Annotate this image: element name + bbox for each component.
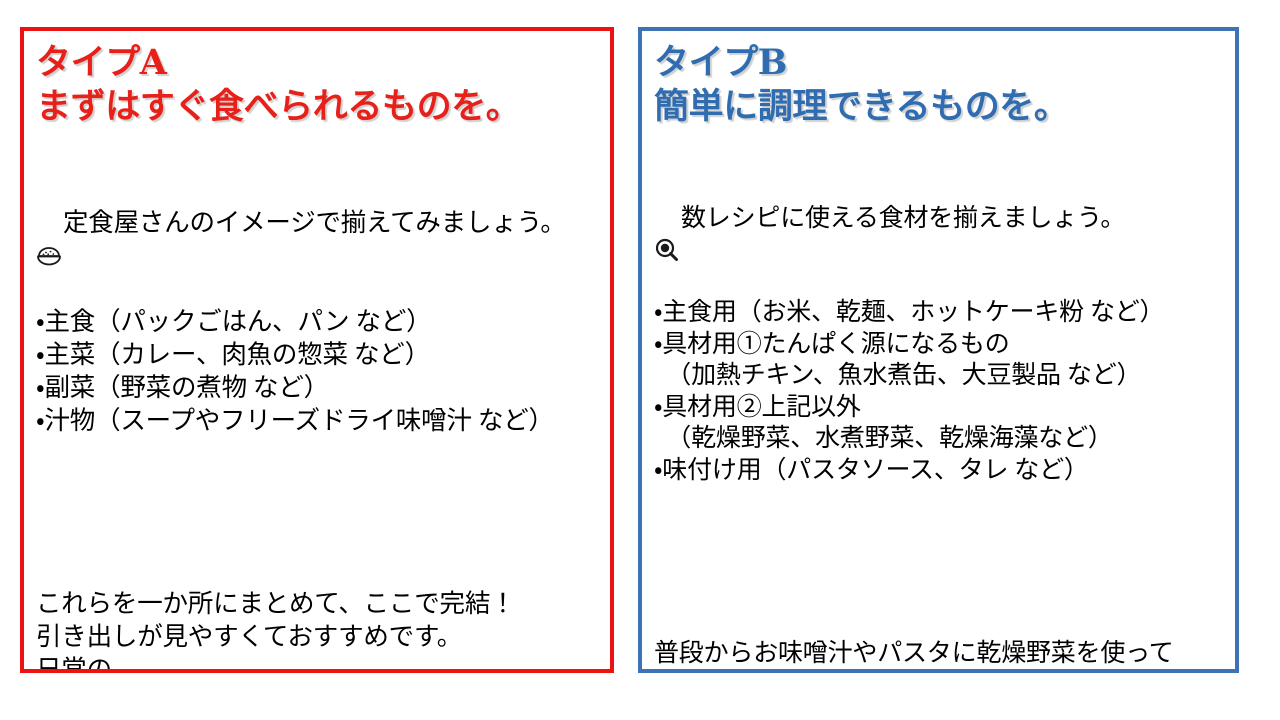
- panel-a-spacer: [36, 503, 598, 521]
- panel-a-content: タイプA まずはすぐ食べられるものを。: [24, 31, 610, 673]
- panel-type-b: タイプB 簡単に調理できるものを。 数レシピに使える食材を揃えましょう。 ・主食…: [638, 27, 1239, 673]
- magnifying-glass-icon: [654, 206, 680, 232]
- panel-b-spacer-1: [654, 549, 1223, 575]
- panel-b-list: ・主食用（お米、乾麺、ホットケーキ粉 など） ・具材用①たんぱく源になるもの （…: [654, 297, 1223, 486]
- panel-b-lead-line: 数レシピに使える食材を揃えましょう。: [654, 203, 1223, 235]
- panel-b-content: タイプB 簡単に調理できるものを。 数レシピに使える食材を揃えましょう。 ・主食…: [642, 31, 1235, 673]
- rice-bowl-icon: [36, 209, 62, 235]
- panel-a-body: 定食屋さんのイメージで揃えてみましょう。 ・主食（パックごはん、パン など） ・…: [36, 140, 598, 673]
- panel-a-paragraph-1: これらを一か所にまとめて、ここで完結！ 引き出しが見やすくておすすめです。 日常…: [36, 587, 598, 673]
- panel-a-lead-text: 定食屋さんのイメージで揃えてみましょう。: [63, 206, 566, 239]
- panel-b-body: 数レシピに使える食材を揃えましょう。 ・主食用（お米、乾麺、ホットケーキ粉 など…: [654, 140, 1223, 673]
- panel-a-list: ・主食（パックごはん、パン など） ・主菜（カレー、肉魚の惣菜 など） ・副菜（…: [36, 305, 598, 437]
- slide-canvas: タイプA まずはすぐ食べられるものを。: [0, 0, 1280, 720]
- panel-b-heading: タイプB 簡単に調理できるものを。: [654, 41, 1223, 130]
- panel-b-lead-text: 数レシピに使える食材を揃えましょう。: [681, 203, 1125, 235]
- panel-a-heading: タイプA まずはすぐ食べられるものを。: [36, 41, 598, 130]
- panel-type-a: タイプA まずはすぐ食べられるものを。: [20, 27, 614, 673]
- panel-a-lead-line: 定食屋さんのイメージで揃えてみましょう。: [36, 206, 598, 239]
- panel-b-paragraph-1: 普段からお味噌汁やパスタに乾燥野菜を使って みたり、急いで食事を用意しなければい…: [654, 638, 1223, 673]
